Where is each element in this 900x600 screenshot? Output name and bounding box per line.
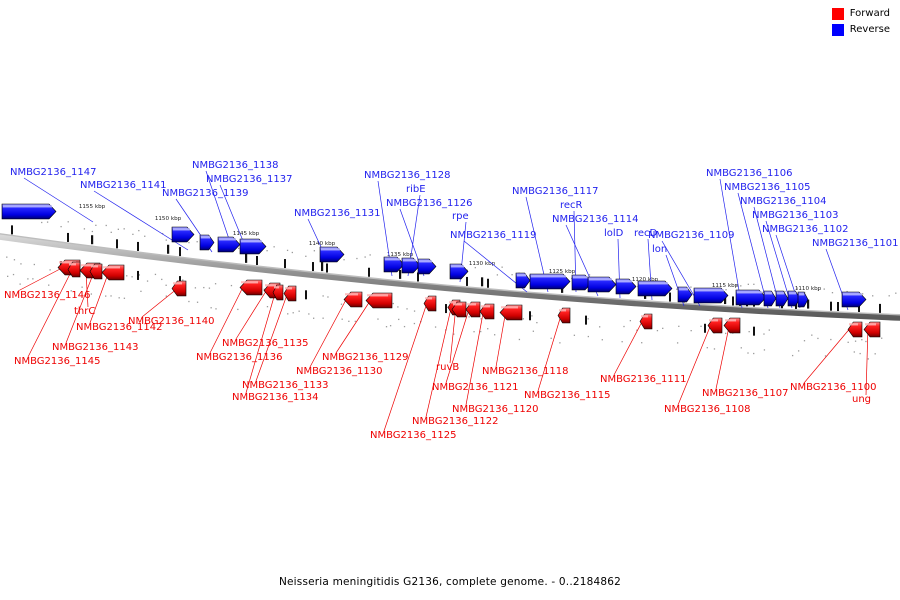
feature-dot bbox=[197, 241, 198, 242]
gene-label[interactable]: NMBG2136_1145 bbox=[14, 356, 100, 367]
feature-dot bbox=[356, 258, 357, 259]
feature-dot bbox=[6, 257, 7, 258]
gene-arrow-highlight bbox=[531, 275, 566, 277]
feature-dot bbox=[602, 339, 603, 340]
gene-arrow-highlight bbox=[501, 306, 518, 308]
gene-leader-line bbox=[496, 310, 506, 367]
feature-dot bbox=[848, 342, 849, 343]
feature-dot bbox=[707, 347, 708, 348]
gene-arrow-highlight bbox=[789, 292, 796, 294]
backbone-hash-tick bbox=[669, 293, 671, 302]
feature-dot bbox=[588, 336, 589, 337]
ruler-major-tick bbox=[399, 270, 401, 279]
gene-label[interactable]: ribE bbox=[406, 184, 426, 195]
ruler-major-tick bbox=[91, 235, 93, 244]
feature-dot bbox=[868, 358, 869, 359]
backbone-hash-tick bbox=[116, 239, 118, 248]
backbone-hash-tick bbox=[879, 304, 881, 313]
feature-dot bbox=[536, 322, 537, 323]
feature-dot bbox=[662, 328, 663, 329]
feature-dot bbox=[92, 231, 93, 232]
feature-dot bbox=[860, 353, 861, 354]
genome-map-canvas[interactable]: 1155 kbp1150 kbp1145 kbp1140 kbp1135 kbp… bbox=[0, 0, 900, 600]
backbone-hash-tick bbox=[11, 225, 13, 234]
feature-dot bbox=[747, 352, 748, 353]
feature-dot bbox=[327, 296, 328, 297]
feature-dot bbox=[197, 302, 198, 303]
legend-label-forward: Forward bbox=[850, 8, 890, 20]
gene-label[interactable]: NMBG2136_1103 bbox=[752, 210, 838, 221]
feature-dot bbox=[798, 350, 799, 351]
feature-dot bbox=[293, 312, 294, 313]
feature-dot bbox=[854, 351, 855, 352]
feature-dot bbox=[804, 340, 805, 341]
feature-dot bbox=[182, 279, 183, 280]
feature-dot bbox=[435, 326, 436, 327]
gene-arrow-highlight bbox=[467, 303, 476, 305]
gene-label[interactable]: NMBG2136_1147 bbox=[10, 167, 96, 178]
gene-label[interactable]: NMBG2136_1146 bbox=[4, 290, 90, 301]
feature-dot bbox=[487, 328, 488, 329]
feature-dot bbox=[748, 284, 749, 285]
feature-dot bbox=[314, 250, 315, 251]
feature-dot bbox=[753, 284, 754, 285]
feature-dot bbox=[865, 341, 866, 342]
feature-dot bbox=[161, 279, 162, 280]
gene-arrow-highlight bbox=[345, 293, 358, 295]
gene-label[interactable]: NMBG2136_1134 bbox=[232, 392, 318, 403]
feature-dot bbox=[203, 287, 204, 288]
gene-arrow-highlight bbox=[69, 263, 76, 265]
feature-dot bbox=[106, 225, 107, 226]
gene-leader-line bbox=[538, 312, 562, 391]
feature-dot bbox=[308, 313, 309, 314]
gene-arrow-highlight bbox=[91, 265, 98, 267]
gene-label[interactable]: lon bbox=[652, 244, 667, 255]
gene-arrow-highlight bbox=[865, 323, 876, 325]
gene-label[interactable]: NMBG2136_1102 bbox=[762, 224, 848, 235]
gene-label[interactable]: NMBG2136_1105 bbox=[724, 182, 810, 193]
feature-dot bbox=[599, 326, 600, 327]
gene-label[interactable]: NMBG2136_1118 bbox=[482, 366, 568, 377]
feature-dot bbox=[830, 339, 831, 340]
gene-arrow-highlight bbox=[425, 297, 432, 299]
feature-dot bbox=[393, 303, 394, 304]
gene-label[interactable]: NMBG2136_1117 bbox=[512, 186, 598, 197]
feature-dot bbox=[273, 246, 274, 247]
feature-dot bbox=[47, 221, 48, 222]
feature-dot bbox=[188, 242, 189, 243]
feature-dot bbox=[531, 315, 532, 316]
gene-label[interactable]: NMBG2136_1101 bbox=[812, 238, 898, 249]
feature-dot bbox=[118, 229, 119, 230]
feature-dot bbox=[231, 285, 232, 286]
gene-arrow-highlight bbox=[799, 293, 804, 295]
feature-dot bbox=[32, 278, 33, 279]
feature-dot bbox=[414, 323, 415, 324]
gene-arrow-highlight bbox=[201, 236, 210, 238]
feature-dot bbox=[305, 256, 306, 257]
gene-arrow-highlight bbox=[453, 303, 462, 305]
feature-dot bbox=[473, 331, 474, 332]
feature-dot bbox=[875, 353, 876, 354]
gene-label[interactable]: NMBG2136_1106 bbox=[706, 168, 792, 179]
backbone-hash-tick bbox=[830, 302, 832, 311]
gene-leader-line bbox=[426, 304, 452, 417]
reverse-swatch-icon bbox=[832, 24, 844, 36]
feature-dot bbox=[292, 252, 293, 253]
gene-label[interactable]: rpe bbox=[452, 211, 469, 222]
gene-arrow-highlight bbox=[419, 260, 432, 262]
ruler-major-tick bbox=[245, 254, 247, 263]
feature-dot bbox=[7, 276, 8, 277]
gene-arrow-highlight bbox=[285, 287, 292, 289]
feature-dot bbox=[110, 295, 111, 296]
feature-dot bbox=[480, 331, 481, 332]
feature-dot bbox=[209, 288, 210, 289]
feature-dot bbox=[188, 301, 189, 302]
feature-dot bbox=[341, 304, 342, 305]
feature-dot bbox=[589, 274, 590, 275]
feature-dot bbox=[370, 254, 371, 255]
feature-dot bbox=[215, 308, 216, 309]
strand-legend: Forward Reverse bbox=[832, 8, 890, 36]
backbone-hash-tick bbox=[137, 242, 139, 251]
feature-dot bbox=[84, 228, 85, 229]
gene-arrow-highlight bbox=[481, 305, 490, 307]
gene-arrow-highlight bbox=[385, 258, 400, 260]
feature-dot bbox=[386, 326, 387, 327]
feature-dot bbox=[41, 222, 42, 223]
feature-dot bbox=[138, 230, 139, 231]
ruler-tick-label: 1150 kbp bbox=[155, 216, 182, 222]
feature-dot bbox=[119, 297, 120, 298]
gene-arrow-highlight bbox=[679, 288, 688, 290]
feature-dot bbox=[131, 276, 132, 277]
ruler-major-tick bbox=[167, 245, 169, 254]
gene-label[interactable]: NMBG2136_1111 bbox=[600, 374, 686, 385]
backbone-hash-tick bbox=[368, 268, 370, 277]
backbone-hash-tick bbox=[137, 271, 139, 280]
gene-label[interactable]: lolD bbox=[604, 228, 624, 239]
gene-label[interactable]: NMBG2136_1143 bbox=[52, 342, 138, 353]
gene-label[interactable]: NMBG2136_1128 bbox=[364, 170, 450, 181]
gene-arrow-highlight bbox=[173, 282, 182, 284]
feature-dot bbox=[741, 347, 742, 348]
feature-dot bbox=[691, 330, 692, 331]
ruler-tick-label: 1155 kbp bbox=[79, 204, 106, 210]
feature-dot bbox=[621, 341, 622, 342]
legend-item-reverse[interactable]: Reverse bbox=[832, 24, 890, 36]
feature-dot bbox=[817, 338, 818, 339]
feature-dot bbox=[630, 320, 631, 321]
legend-label-reverse: Reverse bbox=[850, 24, 890, 36]
gene-arrow-highlight bbox=[639, 282, 668, 284]
feature-dot bbox=[398, 319, 399, 320]
gene-label[interactable]: NMBG2136_1137 bbox=[206, 174, 292, 185]
feature-dot bbox=[105, 295, 106, 296]
feature-dot bbox=[519, 339, 520, 340]
genome-caption: Neisseria meningitidis G2136, complete g… bbox=[0, 576, 900, 588]
backbone-hash-tick bbox=[67, 233, 69, 242]
gene-arrow-highlight bbox=[219, 238, 236, 240]
forward-swatch-icon bbox=[832, 8, 844, 20]
feature-dot bbox=[343, 259, 344, 260]
feature-dot bbox=[861, 339, 862, 340]
ruler-tick-label: 1130 kbp bbox=[469, 261, 496, 267]
feature-dot bbox=[348, 321, 349, 322]
feature-dot bbox=[238, 248, 239, 249]
feature-dot bbox=[862, 293, 863, 294]
gene-arrow-highlight bbox=[765, 292, 772, 294]
feature-dot bbox=[266, 250, 267, 251]
feature-dot bbox=[111, 232, 112, 233]
feature-dot bbox=[195, 287, 196, 288]
feature-dot bbox=[725, 333, 726, 334]
feature-dot bbox=[237, 309, 238, 310]
backbone-hash-tick bbox=[284, 259, 286, 268]
feature-dot bbox=[48, 285, 49, 286]
feature-dot bbox=[889, 295, 890, 296]
feature-dot bbox=[824, 288, 825, 289]
backbone-hash-tick bbox=[312, 262, 314, 271]
feature-dot bbox=[322, 318, 323, 319]
gene-label[interactable]: NMBG2136_1138 bbox=[192, 160, 278, 171]
backbone-hash-tick bbox=[179, 247, 181, 256]
gene-label[interactable]: NMBG2136_1135 bbox=[222, 338, 308, 349]
feature-dot bbox=[551, 338, 552, 339]
gene-arrow-highlight bbox=[695, 289, 724, 291]
gene-label[interactable]: NMBG2136_1131 bbox=[294, 208, 380, 219]
feature-dot bbox=[81, 287, 82, 288]
feature-dot bbox=[19, 283, 20, 284]
feature-dot bbox=[95, 225, 96, 226]
feature-dot bbox=[342, 319, 343, 320]
gene-arrow-highlight bbox=[321, 248, 340, 250]
backbone-hash-tick bbox=[837, 302, 839, 311]
feature-dot bbox=[769, 329, 770, 330]
feature-dot bbox=[497, 274, 498, 275]
feature-dot bbox=[140, 291, 141, 292]
feature-dot bbox=[377, 318, 378, 319]
feature-dot bbox=[132, 234, 133, 235]
gene-label[interactable]: ung bbox=[852, 394, 871, 405]
gene-label[interactable]: thrC bbox=[74, 306, 95, 317]
backbone-hash-tick bbox=[529, 311, 531, 320]
gene-arrow-highlight bbox=[617, 280, 632, 282]
feature-dot bbox=[60, 226, 61, 227]
gene-label[interactable]: ruvB bbox=[436, 362, 459, 373]
gene-label[interactable]: NMBG2136_1114 bbox=[552, 214, 638, 225]
gene-arrow-highlight bbox=[103, 266, 120, 268]
feature-dot bbox=[91, 293, 92, 294]
feature-dot bbox=[124, 228, 125, 229]
gene-arrow-highlight bbox=[573, 276, 588, 278]
gene-label[interactable]: NMBG2136_1107 bbox=[702, 388, 788, 399]
feature-dot bbox=[210, 307, 211, 308]
legend-item-forward[interactable]: Forward bbox=[832, 8, 890, 20]
gene-label[interactable]: NMBG2136_1136 bbox=[196, 352, 282, 363]
gene-arrow-highlight bbox=[3, 205, 52, 207]
gene-arrow-highlight bbox=[849, 323, 858, 325]
ruler-major-tick bbox=[321, 262, 323, 271]
feature-dot bbox=[677, 342, 678, 343]
feature-dot bbox=[872, 295, 873, 296]
feature-dot bbox=[690, 286, 691, 287]
gene-arrow-highlight bbox=[367, 294, 388, 296]
feature-dot bbox=[784, 291, 785, 292]
gene-leader-line bbox=[384, 300, 428, 431]
feature-dot bbox=[792, 355, 793, 356]
gene-label[interactable]: NMBG2136_1104 bbox=[740, 196, 826, 207]
feature-dot bbox=[155, 274, 156, 275]
feature-dot bbox=[404, 326, 405, 327]
backbone-hash-tick bbox=[487, 279, 489, 288]
ruler-tick-label: 1140 kbp bbox=[309, 241, 336, 247]
gene-leader-line bbox=[614, 318, 644, 375]
feature-dot bbox=[313, 318, 314, 319]
gene-label[interactable]: NMBG2136_1139 bbox=[162, 188, 248, 199]
gene-leader-line bbox=[236, 288, 268, 339]
gene-label[interactable]: NMBG2136_1100 bbox=[790, 382, 876, 393]
feature-dot bbox=[753, 353, 754, 354]
feature-dot bbox=[468, 316, 469, 317]
feature-dot bbox=[364, 256, 365, 257]
feature-dot bbox=[20, 263, 21, 264]
genome-map-viewer: 1155 kbp1150 kbp1145 kbp1140 kbp1135 kbp… bbox=[0, 0, 900, 600]
gene-arrow-highlight bbox=[737, 291, 762, 293]
feature-dot bbox=[147, 280, 148, 281]
feature-dot bbox=[299, 311, 300, 312]
feature-dot bbox=[215, 283, 216, 284]
ruler-major-tick bbox=[481, 277, 483, 286]
backbone-hash-tick bbox=[256, 256, 258, 265]
gene-label[interactable]: NMBG2136_1115 bbox=[524, 390, 610, 401]
feature-dot bbox=[27, 278, 28, 279]
feature-dot bbox=[14, 259, 15, 260]
gene-label[interactable]: recR bbox=[560, 200, 583, 211]
gene-arrow-highlight bbox=[589, 278, 612, 280]
feature-dot bbox=[124, 298, 125, 299]
feature-dot bbox=[49, 269, 50, 270]
gene-arrow-highlight bbox=[274, 286, 279, 288]
feature-dot bbox=[126, 275, 127, 276]
feature-dot bbox=[390, 325, 391, 326]
backbone-hash-tick bbox=[326, 264, 328, 273]
backbone-hash-tick bbox=[305, 290, 307, 299]
feature-dot bbox=[714, 348, 715, 349]
feature-dot bbox=[68, 221, 69, 222]
feature-dot bbox=[678, 326, 679, 327]
gene-arrow-highlight bbox=[709, 319, 718, 321]
feature-dot bbox=[397, 306, 398, 307]
feature-dot bbox=[355, 321, 356, 322]
feature-dot bbox=[144, 236, 145, 237]
feature-dot bbox=[895, 293, 896, 294]
backbone-hash-tick bbox=[585, 316, 587, 325]
gene-leader-line bbox=[256, 292, 288, 381]
gene-label[interactable]: NMBG2136_1121 bbox=[432, 382, 518, 393]
feature-dot bbox=[475, 267, 476, 268]
reverse-gene-labels[interactable]: NMBG2136_1147NMBG2136_1141NMBG2136_1138N… bbox=[10, 160, 898, 255]
gene-leader-line bbox=[142, 288, 178, 317]
gene-arrow-highlight bbox=[641, 315, 648, 317]
feature-dot bbox=[749, 331, 750, 332]
backbone-hash-tick bbox=[753, 327, 755, 336]
feature-dot bbox=[623, 326, 624, 327]
feature-dot bbox=[523, 318, 524, 319]
gene-label[interactable]: NMBG2136_1126 bbox=[386, 198, 472, 209]
backbone-hash-tick bbox=[732, 296, 734, 305]
feature-dot bbox=[406, 308, 407, 309]
gene-label[interactable]: NMBG2136_1119 bbox=[450, 230, 536, 241]
backbone-hash-tick bbox=[466, 277, 468, 286]
gene-leader-line bbox=[18, 268, 62, 291]
feature-dot bbox=[811, 335, 812, 336]
feature-dot bbox=[287, 313, 288, 314]
gene-arrow-highlight bbox=[449, 301, 456, 303]
gene-label[interactable]: NMBG2136_1141 bbox=[80, 180, 166, 191]
feature-dot bbox=[855, 341, 856, 342]
feature-dot bbox=[657, 330, 658, 331]
gene-label[interactable]: NMBG2136_1108 bbox=[664, 404, 750, 415]
feature-dot bbox=[832, 292, 833, 293]
gene-arrow-highlight bbox=[517, 274, 526, 276]
feature-dot bbox=[700, 326, 701, 327]
gene-label[interactable]: NMBG2136_1120 bbox=[452, 404, 538, 415]
feature-dot bbox=[166, 239, 167, 240]
feature-dot bbox=[34, 264, 35, 265]
ruler-tick-label: 1145 kbp bbox=[233, 231, 260, 237]
feature-dot bbox=[501, 267, 502, 268]
feature-dot bbox=[322, 295, 323, 296]
feature-dot bbox=[511, 274, 512, 275]
gene-arrow-highlight bbox=[843, 293, 862, 295]
backbone-hash-tick bbox=[445, 304, 447, 313]
feature-dot bbox=[267, 306, 268, 307]
gene-label[interactable]: NMBG2136_1133 bbox=[242, 380, 328, 391]
backbone-hash-tick bbox=[704, 324, 706, 333]
ruler-tick-label: 1110 kbp bbox=[795, 286, 822, 292]
feature-dot bbox=[725, 289, 726, 290]
feature-dot bbox=[588, 318, 589, 319]
gene-label[interactable]: NMBG2136_1130 bbox=[296, 366, 382, 377]
gene-arrow-highlight bbox=[265, 284, 276, 286]
feature-dot bbox=[494, 334, 495, 335]
feature-dot bbox=[533, 331, 534, 332]
gene-label[interactable]: NMBG2136_1122 bbox=[412, 416, 498, 427]
feature-dot bbox=[740, 285, 741, 286]
gene-arrow-highlight bbox=[173, 228, 190, 230]
gene-label[interactable]: NMBG2136_1140 bbox=[128, 316, 214, 327]
gene-label[interactable]: NMBG2136_1125 bbox=[370, 430, 456, 441]
feature-dot bbox=[881, 338, 882, 339]
gene-arrow-highlight bbox=[403, 259, 416, 261]
feature-dot bbox=[287, 250, 288, 251]
gene-arrow-highlight bbox=[559, 309, 566, 311]
feature-dot bbox=[764, 349, 765, 350]
gene-label[interactable]: NMBG2136_1129 bbox=[322, 352, 408, 363]
feature-dot bbox=[676, 289, 677, 290]
gene-arrow-highlight bbox=[451, 265, 464, 267]
feature-dot bbox=[574, 335, 575, 336]
feature-dot bbox=[559, 342, 560, 343]
feature-dot bbox=[763, 333, 764, 334]
gene-label[interactable]: NMBG2136_1109 bbox=[648, 230, 734, 241]
feature-dot bbox=[13, 274, 14, 275]
gene-arrow-highlight bbox=[777, 292, 784, 294]
gene-arrow-highlight bbox=[725, 319, 736, 321]
